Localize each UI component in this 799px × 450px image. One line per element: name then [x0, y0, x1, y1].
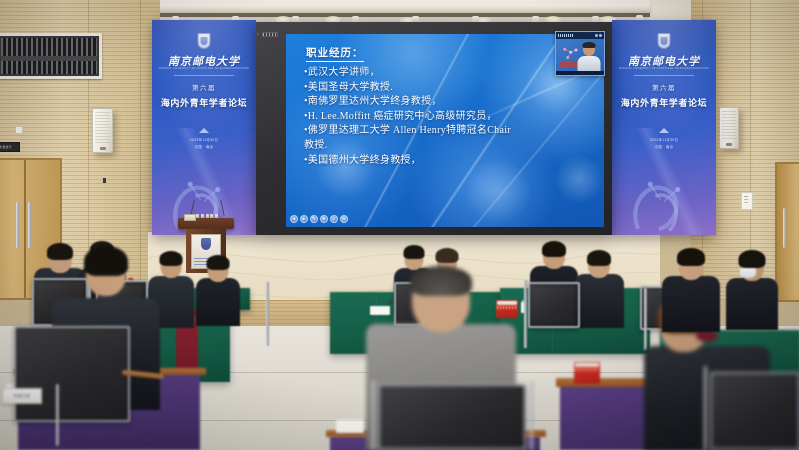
wall-speaker-icon: [719, 107, 739, 149]
banner-edition: 第六届: [156, 82, 252, 92]
video-call-thumbnail[interactable]: [555, 31, 605, 76]
attendee-hair: [207, 255, 230, 270]
door-handle[interactable]: [16, 202, 19, 248]
chair-post: [524, 280, 527, 348]
slide-bokeh-orb: [462, 160, 534, 222]
chair-backrest: [378, 384, 526, 450]
attendee-body: [662, 276, 720, 332]
tissue-sheet: [575, 363, 599, 367]
banner-divider: [634, 75, 694, 76]
attendee: [662, 250, 720, 332]
door-handle[interactable]: [783, 208, 786, 248]
video-call-participant-name: [558, 34, 574, 37]
attendee-body: [196, 278, 240, 326]
wall-notice-icon: [741, 192, 753, 210]
speaker-led: [726, 143, 732, 146]
table-namecard: 学者代表: [2, 388, 42, 404]
air-vent-divider: [1, 56, 97, 61]
microphone-icon: [595, 34, 598, 37]
lectern-crest-badge: [184, 214, 196, 221]
chair-arm-post: [372, 380, 375, 450]
lighting-track-channel: [150, 13, 650, 17]
slide-bullet: •武汉大学讲师，: [304, 66, 594, 81]
avatar-head: [583, 43, 595, 56]
camera-icon: [599, 34, 602, 37]
chair-backrest: [14, 326, 130, 422]
pen-annotate-icon[interactable]: ✎: [310, 215, 318, 223]
face-mask-icon: [740, 268, 756, 278]
chair-foreground[interactable]: [710, 372, 799, 450]
slide-bullet-list: •武汉大学讲师， •美国圣母大学教授. •南佛罗里达州大学终身教授， •H. L…: [304, 66, 594, 168]
previous-slide-icon[interactable]: ◂: [290, 215, 298, 223]
end-show-icon[interactable]: ⊖: [340, 215, 348, 223]
attendee-hair: [587, 250, 611, 266]
conference-hall-photo: 学术报告厅 南京邮电大学 NANJING UNIVERSITY OF POSTS…: [0, 0, 799, 450]
university-crest-icon: [198, 33, 211, 49]
door-handle[interactable]: [28, 202, 31, 248]
speaker-grill: [95, 111, 110, 143]
projection-screen-bezel: 职业经历： •武汉大学讲师， •美国圣母大学教授. •南佛罗里达州大学终身教授，…: [256, 22, 612, 235]
attendee-hair: [436, 248, 459, 263]
attendee-hair: [404, 245, 425, 259]
pointer-icon[interactable]: ➤: [320, 215, 328, 223]
wall-speaker-icon: [92, 108, 113, 153]
slide-bullet: •美国德州大学终身教授，: [304, 154, 594, 169]
chair-arm-post: [704, 366, 707, 450]
slide-bullet-continuation: 教授.: [304, 139, 594, 154]
chair-foreground[interactable]: [14, 326, 130, 422]
banner-title: 海内外青年学者论坛: [614, 96, 714, 109]
chair-mesh: [533, 287, 575, 323]
attendee-hair: [160, 251, 183, 266]
play-slide-icon[interactable]: ▸: [300, 215, 308, 223]
door-sign: 学术报告厅: [0, 142, 20, 152]
banner-ornament-icon: [199, 128, 209, 133]
banner-university-name-en: NANJING UNIVERSITY OF POSTS AND TELECOMM…: [616, 67, 712, 70]
avatar-torso: [578, 56, 601, 71]
banner-divider: [174, 75, 234, 76]
door-split-line: [24, 160, 26, 298]
banner-date: 2023年11月30日: [616, 137, 712, 142]
slide-bullet: •H. Lee.Moffitt 癌症研究中心高级研究员，: [304, 110, 594, 125]
banner-university-name-en: NANJING UNIVERSITY OF POSTS AND TELECOMM…: [156, 67, 252, 70]
chair-mesh: [19, 331, 125, 417]
banner-edition: 第六届: [616, 82, 712, 92]
attendee-hair: [542, 241, 566, 257]
video-call-video-area: [556, 39, 604, 71]
chair-mesh: [383, 389, 521, 445]
slide-bullet: •佛罗里达理工大学 Allen Henry特聘冠名Chair: [304, 124, 594, 139]
banner-left: 南京邮电大学 NANJING UNIVERSITY OF POSTS AND T…: [152, 20, 256, 235]
presentation-toolbar[interactable]: ◂ ▸ ✎ ➤ ⌕ ⊖: [290, 215, 348, 223]
attendee: [574, 250, 624, 328]
video-call-status-icons: [595, 34, 602, 37]
attendee-hair: [677, 248, 705, 266]
papers-icon: [336, 420, 364, 433]
video-call-participant-avatar: [577, 43, 601, 71]
video-call-toolbar[interactable]: [556, 71, 604, 75]
wall-sensor-icon: [103, 178, 106, 183]
chair-backrest: [528, 282, 580, 328]
attendee: [196, 256, 240, 326]
door-sign-label: 学术报告厅: [0, 145, 12, 149]
chair[interactable]: [528, 282, 580, 328]
university-crest-icon: [201, 238, 211, 250]
banner-date: 2023年11月30日: [156, 137, 252, 142]
chair-backrest: [710, 372, 799, 450]
banner-place: 中国 · 南京: [156, 144, 252, 149]
chair-post: [266, 282, 269, 346]
university-crest-icon: [658, 33, 671, 49]
zoom-icon[interactable]: ⌕: [330, 215, 338, 223]
attendee-hair: [410, 266, 472, 296]
slide-bullet: •南佛罗里达州大学终身教授，: [304, 95, 594, 110]
attendee-body: [574, 274, 624, 328]
chair-arm-post: [56, 384, 59, 446]
light-switch-icon[interactable]: [15, 126, 23, 134]
tissue-box-icon: [574, 362, 600, 384]
slide-bullet: •美国圣母大学教授.: [304, 81, 594, 96]
chair-foreground[interactable]: [378, 384, 526, 450]
banner-ornament-icon: [659, 128, 669, 133]
banner-ribbon-graphic: [621, 155, 707, 235]
banner-place: 中国 · 南京: [616, 144, 712, 149]
attendee-hair: [84, 246, 128, 276]
air-vent-icon: [0, 33, 102, 79]
screen-power-led: [257, 33, 259, 35]
video-call-titlebar: [556, 32, 604, 39]
speaker-grill: [722, 110, 736, 139]
namecard-label: 学者代表: [14, 394, 31, 399]
tissue-box-label: [575, 368, 599, 371]
speaker-led: [100, 147, 106, 150]
banner-right: 南京邮电大学 NANJING UNIVERSITY OF POSTS AND T…: [612, 20, 716, 235]
chair-arm-post: [530, 380, 533, 450]
avatar-hair: [583, 42, 596, 48]
chair-mesh: [715, 377, 795, 445]
slide-heading: 职业经历：: [306, 45, 364, 62]
door-right[interactable]: [775, 162, 799, 302]
banner-title: 海内外青年学者论坛: [154, 96, 254, 109]
attendee-hair: [739, 250, 766, 268]
screen-brand-label: [262, 32, 278, 37]
